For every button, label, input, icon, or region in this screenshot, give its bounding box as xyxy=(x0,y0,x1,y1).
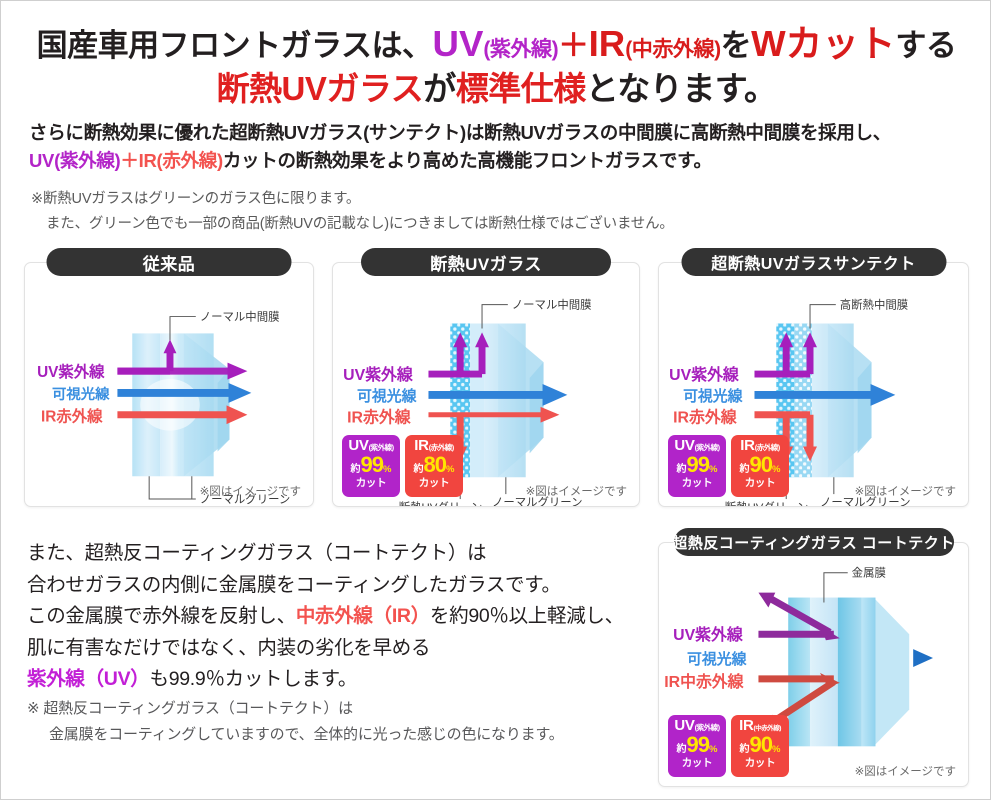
badge-uv-approx-suntect: 約 xyxy=(677,465,687,475)
badge-ir-percent-coatect: % xyxy=(772,745,780,755)
badge-uv-main: UV xyxy=(348,438,368,453)
badge-uv-header-suntect: UV(紫外線) xyxy=(668,438,726,453)
headline-plus: ＋ xyxy=(558,28,589,63)
label-ir-heat: IR赤外線 xyxy=(347,408,411,427)
bottom-line-5b: も99.9％カットします。 xyxy=(150,668,358,690)
badge-uv-cut-coatect: カット xyxy=(682,758,713,769)
label-uv-conventional: UV紫外線 xyxy=(37,362,105,381)
badge-uv-number-coatect: 99 xyxy=(687,734,709,756)
badge-uv-sub-coatect: (紫外線) xyxy=(695,724,720,732)
subtitle-rest: カットの断熱効果をより高めた高機能フロントガラスです。 xyxy=(223,150,712,171)
bottom-line-1: また、超熱反コーティングガラス（コートテクト）は xyxy=(27,538,647,570)
label-uvgreen-suntect: 断熱UVグリーン xyxy=(725,500,809,506)
badge-ir-main: IR xyxy=(414,438,428,453)
badge-uv-99-suntect: UV(紫外線) 約99% カット xyxy=(668,435,726,497)
headline-standard-spec: 標準仕様 xyxy=(456,70,586,107)
headline-ir-label: IR xyxy=(589,23,626,64)
badge-uv-main-suntect: UV xyxy=(674,438,694,453)
subtitle-ir: IR(赤外線) xyxy=(139,150,223,171)
panel-conventional: 従来品 ノーマル中間膜 xyxy=(24,262,314,507)
badge-ir-approx-coatect: 約 xyxy=(740,745,750,755)
bottom-line-2: 合わせガラスの内側に金属膜をコーティングしたガラスです。 xyxy=(27,570,647,602)
badge-ir-header-coatect: IR(中赤外線) xyxy=(731,718,789,733)
badge-uv-value-suntect: 約99% xyxy=(668,454,726,476)
top-note-line-2: また、グリーン色でも一部の商品(断熱UVの記載なし)につきましては断熱仕様ではご… xyxy=(31,212,961,237)
label-uv-suntect: UV紫外線 xyxy=(669,365,739,384)
badge-ir-header-suntect: IR(赤外線) xyxy=(731,438,789,453)
badge-ir-main-coatect: IR xyxy=(739,718,753,733)
bottom-line-3b: を約90％以上軽減し、 xyxy=(430,605,624,627)
label-ir-suntect: IR赤外線 xyxy=(673,408,737,427)
footnote-heat-insulating-uv: ※図はイメージです xyxy=(526,483,627,499)
label-uvgreen-uv: 断熱UVグリーン xyxy=(399,500,483,506)
headline: 国産車用フロントガラスは、UV(紫外線)＋IR(中赤外線)をWカットする 断熱U… xyxy=(1,21,991,110)
label-visible-conventional: 可視光線 xyxy=(52,385,110,403)
badge-ir-sub-suntect: (赤外線) xyxy=(755,444,780,452)
badge-uv-approx: 約 xyxy=(351,465,361,475)
badge-uv-sub: (紫外線) xyxy=(369,444,394,452)
badge-uv-main-coatect: UV xyxy=(674,718,694,733)
badge-ir-90-coatect: IR(中赤外線) 約90% カット xyxy=(731,715,789,777)
infographic-page: 国産車用フロントガラスは、UV(紫外線)＋IR(中赤外線)をWカットする 断熱U… xyxy=(0,0,991,800)
top-note: ※断熱UVガラスはグリーンのガラス色に限ります。 また、グリーン色でも一部の商品… xyxy=(31,187,961,237)
badge-ir-90-suntect: IR(赤外線) 約90% カット xyxy=(731,435,789,497)
badges-coatect: UV(紫外線) 約99% カット IR(中赤外線) 約90% カット xyxy=(668,715,789,777)
footnote-coatect: ※図はイメージです xyxy=(855,763,956,779)
badge-uv-header-coatect: UV(紫外線) xyxy=(668,718,726,733)
headline-wo: を xyxy=(721,28,752,63)
bottom-line-3a: この金属膜で赤外線を反射し、 xyxy=(27,605,296,627)
badge-uv-header: UV(紫外線) xyxy=(342,438,400,453)
label-visible-heat: 可視光線 xyxy=(357,387,417,405)
badge-ir-header: IR(赤外線) xyxy=(405,438,463,453)
label-interlayer-uv: ノーマル中間膜 xyxy=(512,299,592,312)
badge-ir-cut-suntect: カット xyxy=(745,478,776,489)
bottom-description: また、超熱反コーティングガラス（コートテクト）は 合わせガラスの内側に金属膜をコ… xyxy=(27,538,647,696)
headline-tonarimasu: となります。 xyxy=(586,70,777,107)
headline-wcut: Wカット xyxy=(751,23,895,64)
badge-ir-percent-suntect: % xyxy=(772,465,780,475)
badge-uv-value-coatect: 約99% xyxy=(668,734,726,756)
panel-suntect: 超断熱UVガラスサンテクト xyxy=(658,262,969,507)
top-note-line-1: ※断熱UVガラスはグリーンのガラス色に限ります。 xyxy=(31,187,961,212)
badge-ir-80: IR(赤外線) 約80% カット xyxy=(405,435,463,497)
bottom-note-line-1: ※ 超熱反コーティングガラス（コートテクト）は xyxy=(27,696,647,722)
bottom-line-3: この金属膜で赤外線を反射し、中赤外線（IR）を約90％以上軽減し、 xyxy=(27,601,647,633)
badge-uv-cut-suntect: カット xyxy=(682,478,713,489)
badge-ir-percent: % xyxy=(446,465,454,475)
badge-uv-value: 約99% xyxy=(342,454,400,476)
badge-ir-approx-suntect: 約 xyxy=(740,465,750,475)
badge-ir-sub: (赤外線) xyxy=(429,444,454,452)
badge-uv-sub-suntect: (紫外線) xyxy=(695,444,720,452)
badge-uv-percent-coatect: % xyxy=(709,745,717,755)
badge-ir-main-suntect: IR xyxy=(740,438,754,453)
diagram-conventional: ノーマル中間膜 ノーマルグリーン UV紫外線 可視光線 IR赤外線 xyxy=(25,263,313,506)
subtitle-plus: ＋ xyxy=(120,150,138,171)
panel-coatect: 超熱反コーティングガラス コートテクト xyxy=(658,542,969,787)
label-visible-suntect: 可視光線 xyxy=(683,387,743,405)
label-uv-heat: UV紫外線 xyxy=(343,365,413,384)
label-visible-coatect: 可視光線 xyxy=(687,650,747,668)
headline-line-1: 国産車用フロントガラスは、UV(紫外線)＋IR(中赤外線)をWカットする xyxy=(1,21,991,68)
headline-suru: する xyxy=(895,28,956,63)
badge-ir-value: 約80% xyxy=(405,454,463,476)
badge-ir-cut: カット xyxy=(419,478,450,489)
subtitle-line-2: UV(紫外線)＋IR(赤外線)カットの断熱効果をより高めた高機能フロントガラスで… xyxy=(29,147,969,175)
label-uv-coatect: UV紫外線 xyxy=(673,625,743,644)
label-ir-coatect: IR中赤外線 xyxy=(664,672,743,691)
bottom-line-5: 紫外線（UV）も99.9％カットします。 xyxy=(27,664,647,696)
headline-text-1: 国産車用フロントガラスは、 xyxy=(37,28,433,63)
headline-line-2: 断熱UVガラスが標準仕様となります。 xyxy=(1,68,991,110)
badge-ir-number-coatect: 90 xyxy=(750,734,772,756)
label-ir-conventional: IR赤外線 xyxy=(41,407,103,426)
badge-uv-99: UV(紫外線) 約99% カット xyxy=(342,435,400,497)
label-interlayer-conventional: ノーマル中間膜 xyxy=(200,311,280,324)
label-interlayer-suntect: 高断熱中間膜 xyxy=(840,299,908,312)
badge-ir-cut-coatect: カット xyxy=(745,758,776,769)
headline-uv-label: UV xyxy=(433,23,484,64)
badge-uv-99-coatect: UV(紫外線) 約99% カット xyxy=(668,715,726,777)
subtitle: さらに断熱効果に優れた超断熱UVガラス(サンテクト)は断熱UVガラスの中間膜に高… xyxy=(29,119,969,175)
badge-ir-approx: 約 xyxy=(414,465,424,475)
badge-ir-value-coatect: 約90% xyxy=(731,734,789,756)
bottom-line-4: 肌に有害なだけではなく、内装の劣化を早める xyxy=(27,633,647,665)
headline-ir-paren: (中赤外線) xyxy=(625,38,720,61)
bottom-note: ※ 超熱反コーティングガラス（コートテクト）は 金属膜をコーティングしていますの… xyxy=(27,696,647,748)
badge-uv-number: 99 xyxy=(361,454,383,476)
badges-suntect: UV(紫外線) 約99% カット IR(赤外線) 約90% カット xyxy=(668,435,789,497)
headline-uv-paren: (紫外線) xyxy=(483,38,558,61)
bottom-ir-highlight: 中赤外線（IR） xyxy=(296,605,430,627)
badge-uv-percent: % xyxy=(383,465,391,475)
subtitle-uv: UV(紫外線) xyxy=(29,150,120,171)
label-metal-film: 金属膜 xyxy=(852,567,886,580)
badge-ir-value-suntect: 約90% xyxy=(731,454,789,476)
badge-uv-number-suntect: 99 xyxy=(687,454,709,476)
badge-uv-approx-coatect: 約 xyxy=(677,745,687,755)
footnote-conventional: ※図はイメージです xyxy=(200,483,301,499)
bottom-note-line-2: 金属膜をコーティングしていますので、全体的に光った感じの色になります。 xyxy=(27,722,647,748)
badge-uv-percent-suntect: % xyxy=(709,465,717,475)
badges-heat-insulating-uv: UV(紫外線) 約99% カット IR(赤外線) 約80% カット xyxy=(342,435,463,497)
headline-product-name: 断熱UVガラス xyxy=(217,70,424,107)
bottom-uv-highlight: 紫外線（UV） xyxy=(27,668,150,690)
headline-ga: が xyxy=(423,70,456,107)
badge-uv-cut: カット xyxy=(356,478,387,489)
footnote-suntect: ※図はイメージです xyxy=(855,483,956,499)
badge-ir-number-suntect: 90 xyxy=(750,454,772,476)
panel-heat-insulating-uv: 断熱UVガラス xyxy=(332,262,640,507)
badge-ir-number: 80 xyxy=(424,454,446,476)
subtitle-line-1: さらに断熱効果に優れた超断熱UVガラス(サンテクト)は断熱UVガラスの中間膜に高… xyxy=(29,119,969,147)
